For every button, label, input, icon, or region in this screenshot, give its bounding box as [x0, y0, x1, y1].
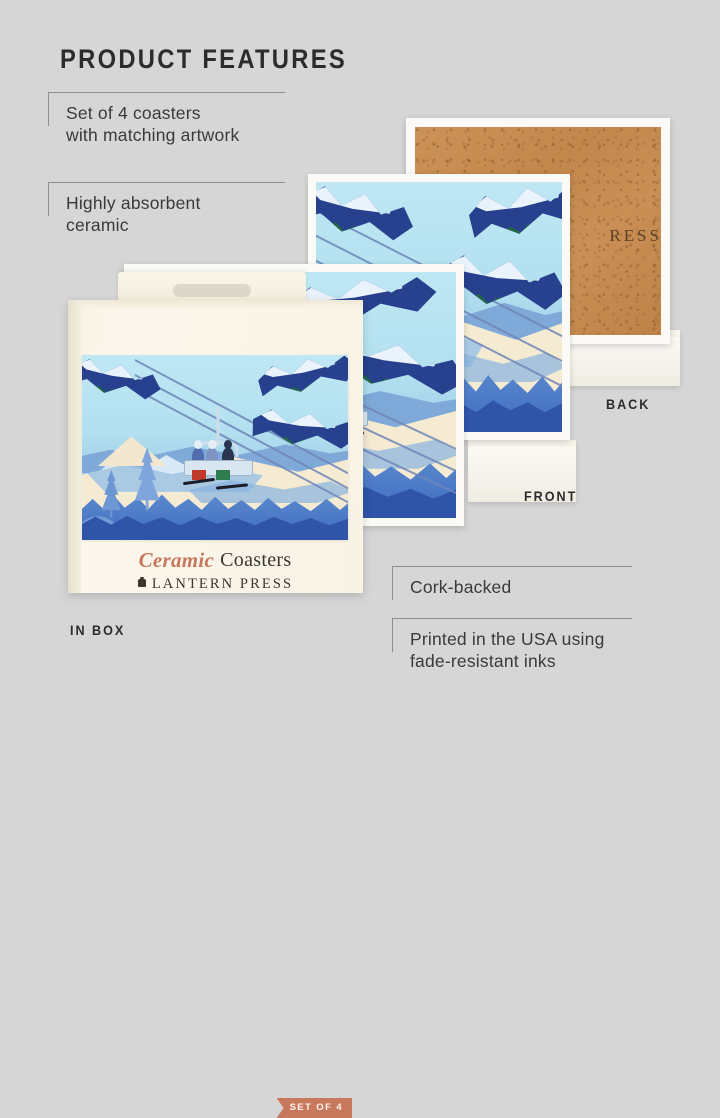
feature-item-set-of-4: Set of 4 coasters with matching artwork: [48, 92, 285, 146]
coaster-artwork: [82, 355, 348, 540]
feature-text: Printed in the USA using fade-resistant …: [410, 628, 632, 672]
box-left-edge: [68, 300, 81, 593]
feature-divider: [48, 92, 285, 93]
feature-item-printed-usa: Printed in the USA using fade-resistant …: [392, 618, 632, 672]
box-top-bevel: [68, 300, 363, 309]
brand-script-word: Ceramic: [139, 548, 215, 572]
caption-in-box: IN BOX: [70, 622, 125, 638]
feature-divider: [392, 618, 632, 619]
brand-roman-word: Coasters: [220, 549, 291, 571]
box-artwork-window: [82, 355, 348, 540]
product-feature-sheet: PRODUCT FEATURES Set of 4 coasters with …: [0, 0, 720, 720]
feature-text: Set of 4 coasters with matching artwork: [66, 102, 285, 146]
feature-divider: [48, 182, 285, 183]
publisher-name: LANTERN PRESS: [152, 576, 293, 592]
feature-divider: [392, 566, 632, 567]
feature-text: Highly absorbent ceramic: [66, 192, 285, 236]
caption-front: FRONT: [524, 488, 577, 504]
box-branding: Ceramic Coasters LANTERN PRESS SET OF 4: [82, 548, 348, 593]
cork-brand-text: RESS: [609, 226, 662, 246]
feature-item-absorbent: Highly absorbent ceramic: [48, 182, 285, 236]
publisher-line: LANTERN PRESS: [82, 576, 348, 593]
lantern-icon: [137, 577, 147, 589]
base-lip: [468, 440, 576, 447]
feature-text: Cork-backed: [410, 576, 632, 598]
caption-back: BACK: [606, 396, 650, 412]
hang-slot: [173, 284, 251, 297]
feature-item-cork-backed: Cork-backed: [392, 566, 632, 598]
page-title: PRODUCT FEATURES: [60, 44, 347, 75]
set-of-4-badge: SET OF 4: [277, 1098, 352, 1118]
